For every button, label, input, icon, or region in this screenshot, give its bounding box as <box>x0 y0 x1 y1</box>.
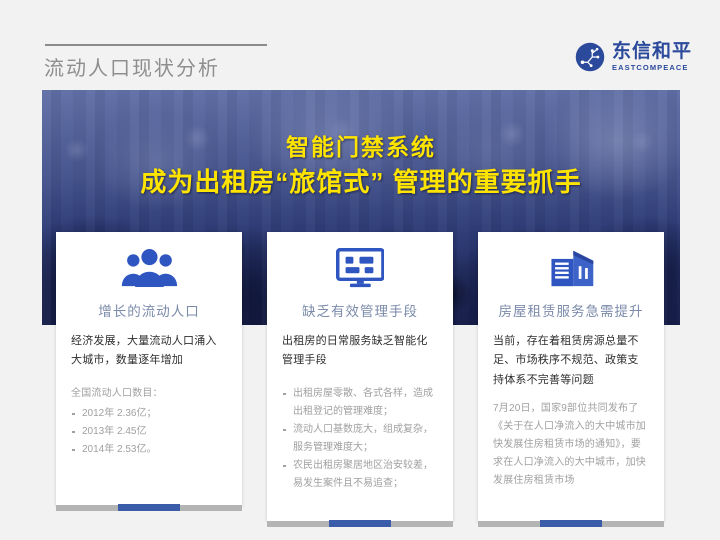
card-body-text: 出租房的日常服务缺乏智能化管理手段 <box>282 332 438 371</box>
list-item: 流动人口基数庞大，组成复杂，服务管理难度大； <box>282 421 438 457</box>
logo-wordmark: 东信和平 EASTCOMPEACE <box>612 42 692 72</box>
logo-name-en: EASTCOMPEACE <box>612 64 692 72</box>
card-sub-label: 全国流动人口数目： <box>71 385 227 403</box>
card-accent-bar <box>540 520 602 527</box>
list-item: 2013年 2.45亿 <box>71 423 227 441</box>
page-title: 流动人口现状分析 <box>44 52 220 81</box>
list-item: 农民出租房聚居地区治安较差，易发生案件且不易追查； <box>282 457 438 493</box>
monitor-dashboard-icon <box>336 248 385 288</box>
card-title: 缺乏有效管理手段 <box>282 300 438 320</box>
card-sub-label: 7月20日，国家9部位共同发布了《关于在人口净流入的大中城市加快发展住房租赁市场… <box>493 400 649 490</box>
list-item: 出租房屋零散、各式各样，造成出租登记的管理难度； <box>282 385 438 421</box>
slide-canvas: 流动人口现状分析 东信和平 EASTCOMPEACE <box>0 0 720 540</box>
card-title: 增长的流动人口 <box>71 300 227 320</box>
brand-logo: 东信和平 EASTCOMPEACE <box>575 42 692 72</box>
list-item: 2012年 2.36亿； <box>71 405 227 423</box>
card-accent-bar <box>329 520 391 527</box>
info-card-population[interactable]: 增长的流动人口 经济发展，大量流动人口涌入大城市，数量逐年增加 全国流动人口数目… <box>56 232 242 505</box>
card-title: 房屋租赁服务急需提升 <box>493 300 649 320</box>
card-bullet-list: 出租房屋零散、各式各样，造成出租登记的管理难度； 流动人口基数庞大，组成复杂，服… <box>282 385 438 493</box>
card-accent-bar <box>118 504 180 511</box>
list-item: 2014年 2.53亿。 <box>71 441 227 459</box>
office-building-icon <box>546 248 597 288</box>
card-bullet-list: 2012年 2.36亿； 2013年 2.45亿 2014年 2.53亿。 <box>71 405 227 459</box>
card-body-text: 经济发展，大量流动人口涌入大城市，数量逐年增加 <box>71 332 227 371</box>
info-card-management[interactable]: 缺乏有效管理手段 出租房的日常服务缺乏智能化管理手段 出租房屋零散、各式各样，造… <box>267 232 453 521</box>
logo-name-cn: 东信和平 <box>612 42 692 61</box>
header-divider <box>45 44 267 46</box>
card-body-text: 当前，存在着租赁房源总量不足、市场秩序不规范、政策支持体系不完善等问题 <box>493 332 649 390</box>
people-group-icon <box>119 248 180 288</box>
eastcompeace-circuit-icon <box>575 42 605 72</box>
info-card-rental-service[interactable]: 房屋租赁服务急需提升 当前，存在着租赁房源总量不足、市场秩序不规范、政策支持体系… <box>478 232 664 521</box>
